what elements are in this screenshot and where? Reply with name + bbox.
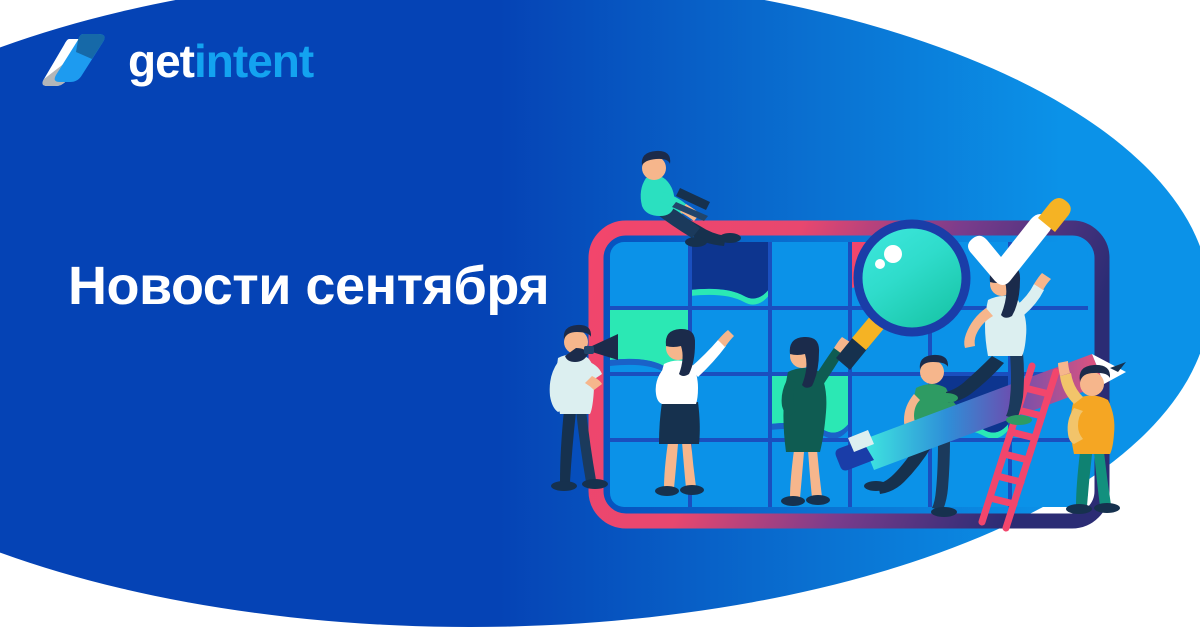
shoe	[655, 486, 679, 496]
shoe	[1006, 415, 1032, 425]
shoe	[680, 485, 704, 495]
shoe	[551, 481, 577, 491]
shoe	[781, 496, 805, 506]
team-planning-board-illustration	[540, 150, 1160, 530]
shoe	[1066, 504, 1092, 514]
banner: getintent Новости сентября	[0, 0, 1200, 627]
logo-word-get: get	[128, 35, 194, 87]
shoe	[582, 479, 608, 489]
shoe	[934, 393, 958, 403]
shoe	[1094, 503, 1120, 513]
shoe	[719, 233, 741, 243]
logo-word-intent: intent	[194, 35, 313, 87]
page-title: Новости сентября	[68, 258, 549, 315]
shoe	[685, 237, 707, 247]
shoe	[931, 507, 957, 517]
shoe	[806, 495, 830, 505]
logo-wordmark: getintent	[128, 38, 313, 84]
getintent-chevron-mark	[42, 31, 114, 91]
man-with-megaphone	[550, 325, 618, 491]
shoe	[864, 481, 888, 491]
brand-logo[interactable]: getintent	[42, 30, 313, 92]
